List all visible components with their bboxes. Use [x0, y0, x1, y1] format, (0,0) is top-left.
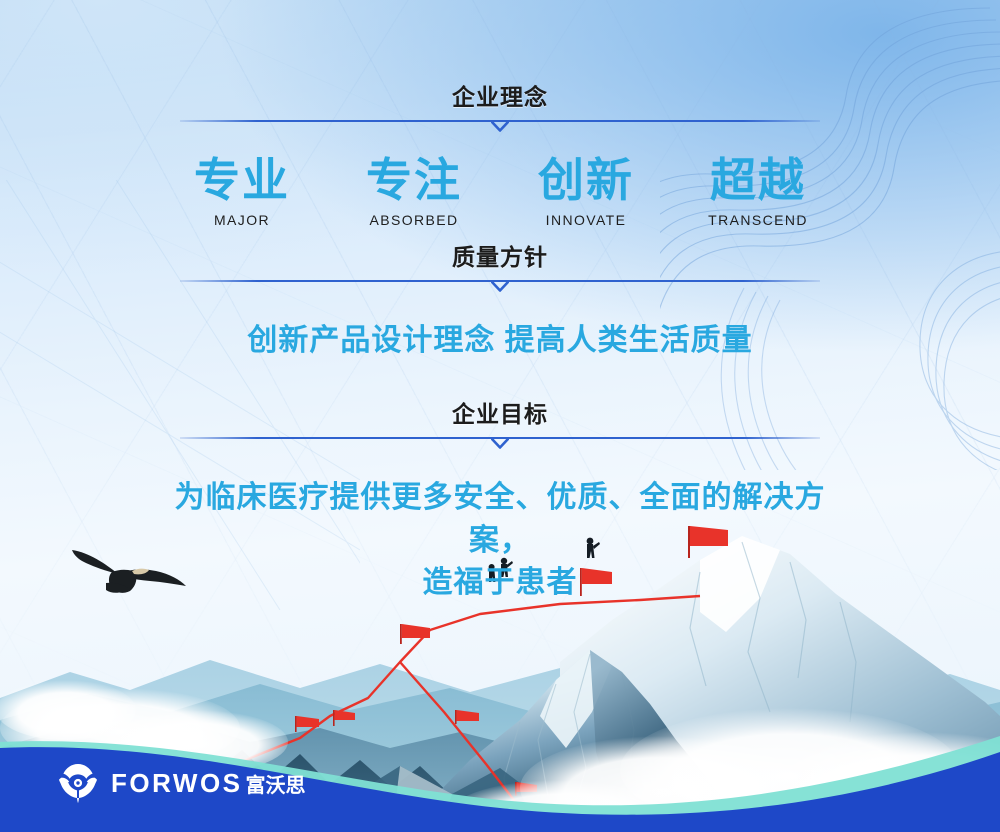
philosophy-en: TRANSCEND	[672, 212, 844, 228]
philosophy-item-absorbed: 专注 ABSORBED	[328, 156, 500, 228]
philosophy-cn: 专注	[328, 156, 500, 205]
slide-content: 企业理念 专业 MAJOR 专注 ABSORBED 创新 INNOVA	[0, 0, 1000, 832]
corporate-goal-line-2: 造福于患者	[150, 562, 850, 605]
philosophy-items: 专业 MAJOR 专注 ABSORBED 创新 INNOVATE 超越 TRAN…	[0, 156, 1000, 228]
corporate-goal-line-1: 为临床医疗提供更多安全、优质、全面的解决方案，	[150, 477, 850, 562]
philosophy-cn: 专业	[156, 156, 328, 205]
philosophy-en: INNOVATE	[500, 212, 672, 228]
philosophy-item-innovate: 创新 INNOVATE	[500, 156, 672, 228]
philosophy-cn: 创新	[500, 156, 672, 205]
chevron-down-icon	[491, 438, 509, 450]
section-divider-philosophy	[180, 120, 820, 134]
philosophy-item-transcend: 超越 TRANSCEND	[672, 156, 844, 228]
quality-policy-text: 创新产品设计理念 提高人类生活质量	[0, 320, 1000, 363]
section-divider-quality-policy	[180, 280, 820, 294]
philosophy-item-major: 专业 MAJOR	[156, 156, 328, 228]
philosophy-cn: 超越	[672, 156, 844, 205]
philosophy-en: ABSORBED	[328, 212, 500, 228]
chevron-down-icon	[491, 281, 509, 293]
section-divider-corporate-goal	[180, 437, 820, 451]
section-corporate-goal: 企业目标 为临床医疗提供更多安全、优质、全面的解决方案， 造福于患者	[0, 403, 1000, 605]
section-philosophy: 企业理念 专业 MAJOR 专注 ABSORBED 创新 INNOVA	[0, 86, 1000, 228]
section-title-corporate-goal: 企业目标	[0, 403, 1000, 426]
culture-slide: FORWOS 富沃思 企业理念 专业 MAJOR 专注 ABSORBE	[0, 0, 1000, 832]
section-quality-policy: 质量方针 创新产品设计理念 提高人类生活质量	[0, 246, 1000, 363]
chevron-down-icon	[491, 121, 509, 133]
section-title-quality-policy: 质量方针	[0, 246, 1000, 269]
section-title-philosophy: 企业理念	[0, 86, 1000, 109]
philosophy-en: MAJOR	[156, 212, 328, 228]
